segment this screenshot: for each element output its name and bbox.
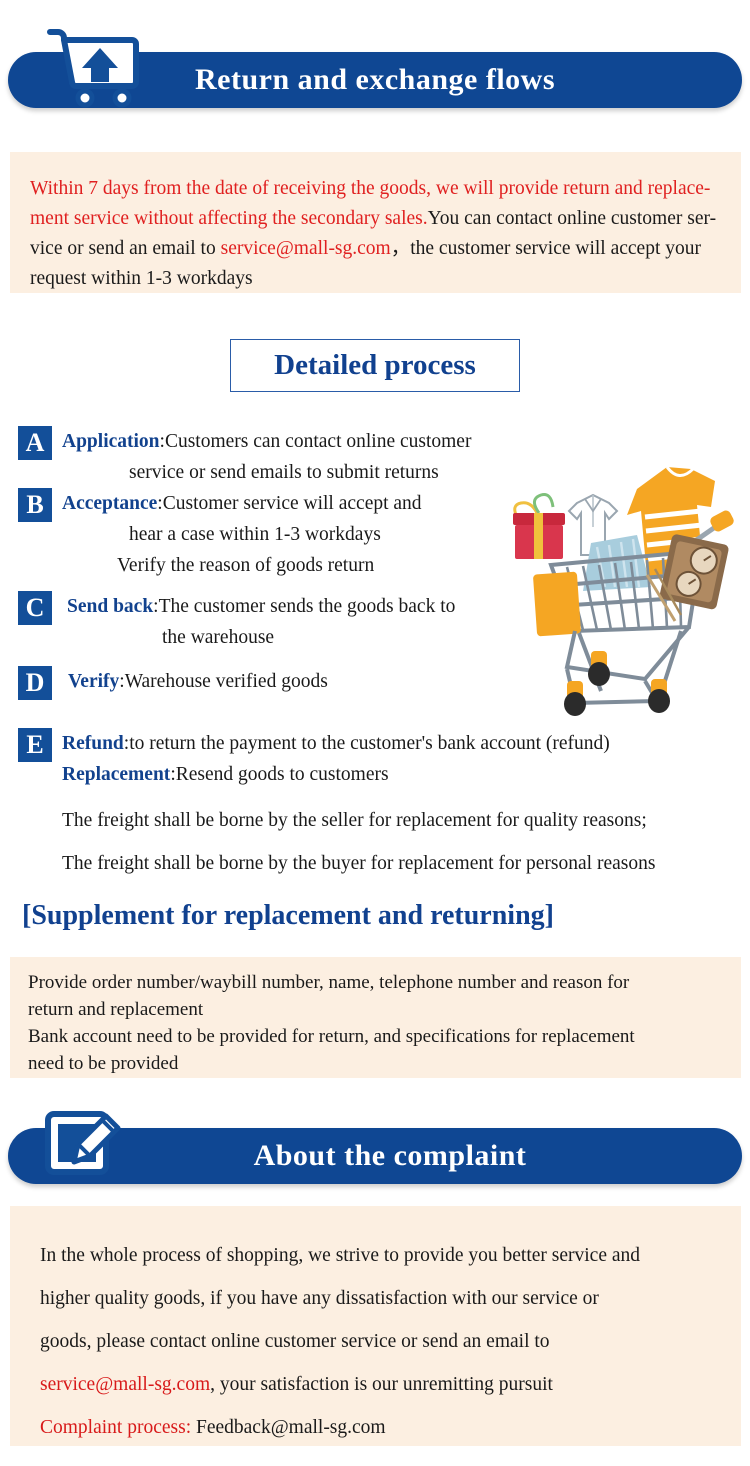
complaint-line-3: goods, please contact online customer se… [40,1331,550,1352]
step-badge-c: C [18,591,52,625]
detailed-process-heading: Detailed process [274,351,476,380]
step-e-refund-text: to return the payment to the customer's … [129,733,610,754]
step-badge-b: B [18,488,52,522]
step-d-body: Verify:Warehouse verified goods [62,666,552,697]
notice-line2-red: ment service without affecting the secon… [30,208,428,229]
step-b-line-1: Customer service will accept and [163,493,422,514]
step-a-line-1: Customers can contact online customer [165,431,472,452]
step-b-line-3: Verify the reason of goods return [62,550,552,581]
notice-line3-prefix: vice or send an email to [30,238,221,259]
step-a-body: Application:Customers can contact online… [62,426,562,488]
complaint-line-4-rest: , your satisfaction is our unremitting p… [210,1374,553,1395]
step-c-line-1: The customer sends the goods back to [159,596,456,617]
shopping-cart-up-arrow-icon [40,24,144,108]
cart-wheels-illustration [564,651,670,716]
step-c-body: Send back:The customer sends the goods b… [62,591,552,653]
complaint-process-label: Complaint process: [40,1417,191,1438]
complaint-service-email-link[interactable]: service@mall-sg.com [40,1374,210,1395]
supplement-heading: [Supplement for replacement and returnin… [22,902,554,930]
detailed-process-heading-box: Detailed process [230,339,520,392]
step-badge-d: D [18,666,52,700]
supplement-line-4: need to be provided [28,1053,178,1074]
step-d-line-1: Warehouse verified goods [125,671,328,692]
step-d-label: Verify [62,671,119,692]
complaint-line-1: In the whole process of shopping, we str… [40,1245,640,1266]
notice-line1: Within 7 days from the date of receiving… [30,178,710,199]
complaint-line-2: higher quality goods, if you have any di… [40,1288,599,1309]
supplement-line-2: return and replacement [28,999,203,1020]
step-b-label: Acceptance [62,493,157,514]
step-badge-e: E [18,728,52,762]
step-e-body: Refund:to return the payment to the cust… [62,728,722,790]
supplement-notice: Provide order number/waybill number, nam… [10,957,741,1078]
notice-line4: request within 1-3 workdays [30,268,253,289]
return-policy-notice: Within 7 days from the date of receiving… [10,152,741,293]
step-a-label: Application [62,431,160,452]
supplement-line-1: Provide order number/waybill number, nam… [28,972,629,993]
step-e-replacement-label: Replacement [62,764,170,785]
supplement-line-3: Bank account need to be provided for ret… [28,1026,635,1047]
step-c-label: Send back [62,596,153,617]
step-b-line-2: hear a case within 1-3 workdays [62,519,552,550]
service-email-link[interactable]: service@mall-sg.com [221,238,391,259]
complaint-notice: In the whole process of shopping, we str… [10,1206,741,1446]
step-e-refund-label: Refund [62,733,124,754]
step-a-line-2: service or send emails to submit returns [62,457,562,488]
step-e-replacement-text: Resend goods to customers [176,764,389,785]
step-c-line-2: the warehouse [62,622,552,653]
complaint-feedback-email[interactable]: Feedback@mall-sg.com [191,1417,386,1438]
step-b-body: Acceptance:Customer service will accept … [62,488,552,581]
notice-line3-suffix: ，the customer service will accept your [391,238,701,259]
freight-note-2: The freight shall be borne by the buyer … [62,848,655,879]
freight-note-1: The freight shall be borne by the seller… [62,805,647,836]
notice-line2-black: You can contact online customer ser- [428,208,716,229]
step-badge-a: A [18,426,52,460]
edit-document-pencil-icon [40,1100,124,1184]
